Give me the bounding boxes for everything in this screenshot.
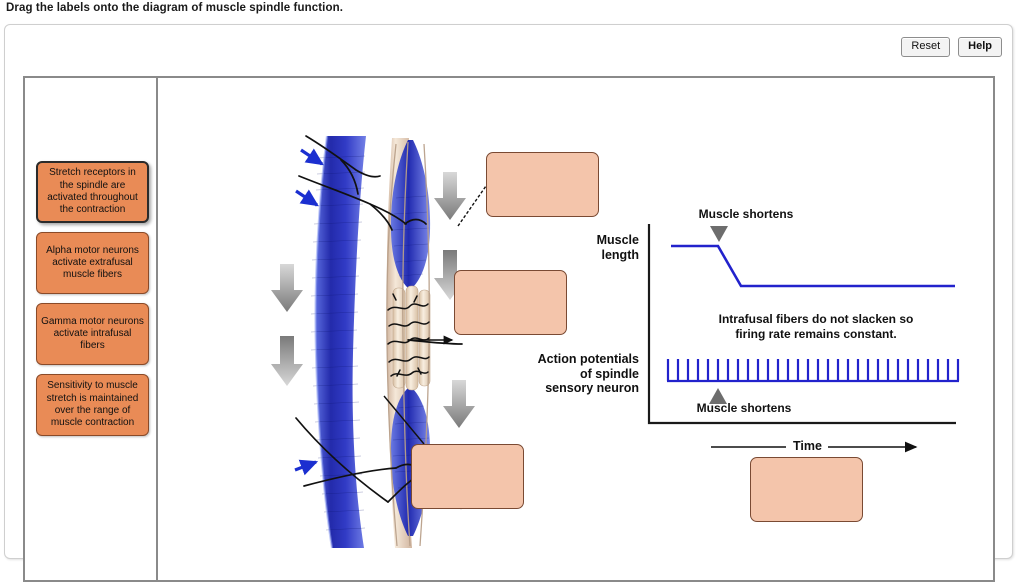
label-chip-sensitivity[interactable]: Sensitivity to muscle stretch is maintai…	[36, 374, 149, 436]
extrafusal-muscle-fiber	[311, 136, 366, 548]
muscle-shortens-marker-top	[710, 226, 728, 242]
exercise-panel: Reset Help Stretch receptors in the spin…	[4, 24, 1013, 559]
arrow-down-bottom	[443, 380, 475, 428]
annotation-intrafusal-note: Intrafusal fibers do not slacken so firi…	[656, 312, 976, 342]
diagram-stage: Stretch receptors in the spindle are act…	[23, 76, 995, 582]
label-tray: Stretch receptors in the spindle are act…	[25, 78, 156, 580]
arrow-down-top	[434, 172, 466, 220]
spike-train	[668, 359, 958, 381]
dropzone-bottom-spindle[interactable]	[411, 444, 524, 509]
toolbar: Reset Help	[901, 37, 1002, 57]
page-title: Drag the labels onto the diagram of musc…	[6, 2, 343, 14]
chart-xlabel-time: Time	[793, 439, 822, 453]
annotation-muscle-shortens-bottom: Muscle shortens	[654, 401, 834, 416]
annotation-muscle-shortens-top: Muscle shortens	[656, 207, 836, 222]
dropzone-top-spindle[interactable]	[486, 152, 599, 217]
chart-ylabel-muscle-length: Muscle length	[519, 233, 639, 262]
arrow-up-left	[271, 336, 303, 386]
dropzone-mid-spindle[interactable]	[454, 270, 567, 335]
leader-line-top	[458, 186, 486, 226]
dropzone-chart[interactable]	[750, 457, 863, 522]
label-chip-alpha-motor[interactable]: Alpha motor neurons activate extrafusal …	[36, 232, 149, 294]
muscle-length-trace	[671, 246, 955, 286]
chart-ylabel-action-potentials: Action potentials of spindle sensory neu…	[506, 352, 639, 396]
label-chip-gamma-motor[interactable]: Gamma motor neurons activate intrafusal …	[36, 303, 149, 365]
arrow-down-left	[271, 264, 303, 312]
figure-area: Muscle length Action potentials of spind…	[156, 78, 993, 580]
reset-button[interactable]: Reset	[901, 37, 950, 57]
exercise-root: Drag the labels onto the diagram of musc…	[0, 0, 1024, 561]
help-button[interactable]: Help	[958, 37, 1002, 57]
label-chip-stretch-receptors[interactable]: Stretch receptors in the spindle are act…	[36, 161, 149, 223]
